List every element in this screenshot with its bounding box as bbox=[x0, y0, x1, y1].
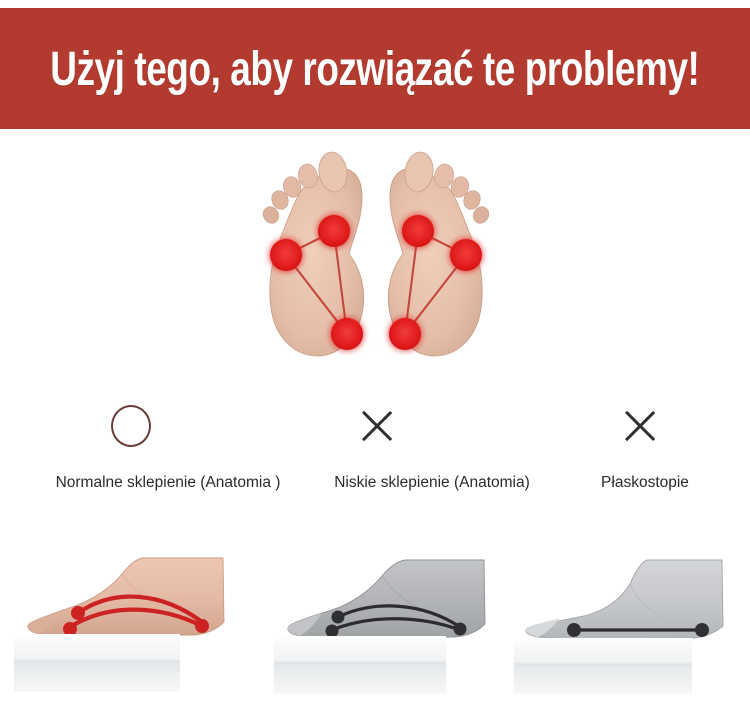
circle-ok-icon bbox=[111, 405, 151, 447]
caption-normal-arch: Normalne sklepienie (Anatomia ) bbox=[18, 472, 318, 494]
cross-bad-icon bbox=[357, 406, 397, 446]
verdict-marker-row bbox=[0, 396, 750, 456]
foot-model-panels bbox=[0, 530, 750, 701]
panel-low-arch bbox=[268, 530, 511, 701]
left-foot-sole bbox=[260, 150, 363, 356]
cross-bad-icon bbox=[620, 406, 660, 446]
panel-flat-foot bbox=[508, 530, 750, 701]
foot-side-profile bbox=[526, 560, 723, 639]
headline-text: Użyj tego, aby rozwiązać te problemy! bbox=[50, 45, 699, 93]
right-foot-sole bbox=[388, 150, 491, 356]
caption-flat-foot: Płaskostopie bbox=[560, 472, 730, 494]
caption-low-arch: Niskie sklepienie (Anatomia) bbox=[312, 472, 552, 494]
display-platform bbox=[14, 634, 180, 692]
caption-row: Normalne sklepienie (Anatomia ) Niskie s… bbox=[0, 472, 750, 502]
display-platform bbox=[274, 636, 446, 694]
foot-soles-illustration bbox=[245, 142, 507, 370]
promo-infographic: Użyj tego, aby rozwiązać te problemy! bbox=[0, 0, 750, 701]
panel-normal-arch bbox=[10, 530, 253, 701]
verdict-cell-1 bbox=[81, 396, 181, 456]
verdict-cell-3 bbox=[590, 396, 690, 456]
verdict-cell-2 bbox=[327, 396, 427, 456]
display-platform bbox=[514, 638, 692, 694]
headline-banner: Użyj tego, aby rozwiązać te problemy! bbox=[0, 8, 750, 129]
